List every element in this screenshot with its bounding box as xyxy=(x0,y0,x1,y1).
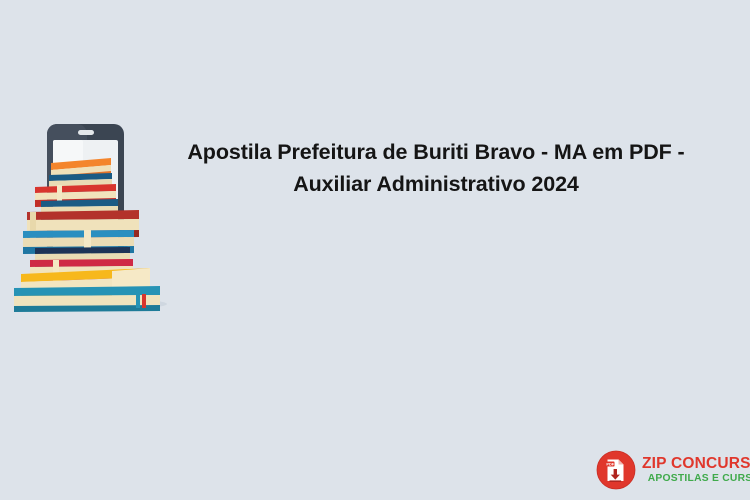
promo-title: Apostila Prefeitura de Buriti Bravo - MA… xyxy=(170,136,702,200)
brand-name: ZIP CONCURSOS xyxy=(642,456,750,472)
brand-logo[interactable]: PDF ZIP CONCURSOS APOSTILAS E CURSOS xyxy=(596,448,742,492)
book-teal-base xyxy=(14,286,160,312)
svg-text:PDF: PDF xyxy=(606,462,614,467)
brand-tagline: APOSTILAS E CURSOS xyxy=(642,474,750,484)
pdf-download-icon: PDF xyxy=(596,450,636,490)
brand-wordmark: ZIP CONCURSOS APOSTILAS E CURSOS xyxy=(642,456,750,485)
promo-card: Apostila Prefeitura de Buriti Bravo - MA… xyxy=(0,0,750,500)
stack-of-books-illustration xyxy=(8,118,178,313)
